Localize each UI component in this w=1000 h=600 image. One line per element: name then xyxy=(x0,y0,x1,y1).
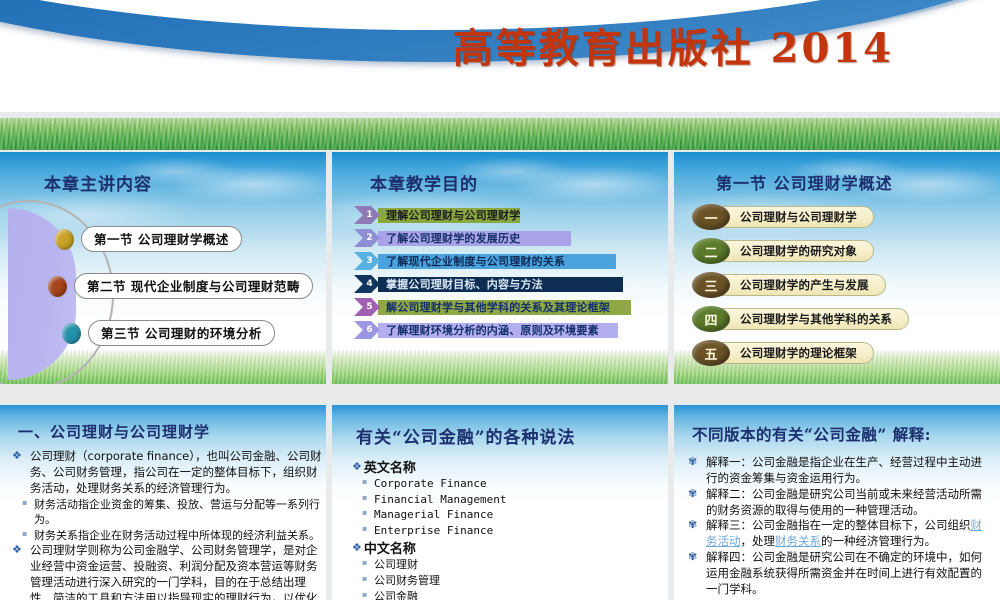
explanation-item: ✾解释一：公司金融是指企业在生产、经营过程中主动进行的资金筹集与资金运用行为。 xyxy=(688,455,990,487)
slide5-body: ❖ 英文名称 ▪Corporate Finance▪Financial Mana… xyxy=(352,457,652,600)
english-term-item: ▪Enterprise Finance xyxy=(352,523,652,539)
text-run: 解释四：公司金融是研究公司在不确定的环境中，如何运用金融系统获得所需资金并在时间… xyxy=(706,550,982,596)
subsection-number-badge: 二 xyxy=(692,238,730,264)
grass-divider-top xyxy=(0,118,1000,150)
diamond-bullet-icon: ❖ xyxy=(352,541,362,554)
diamond-bullet-icon: ❖ xyxy=(352,460,362,473)
english-term-list: ▪Corporate Finance▪Financial Management▪… xyxy=(352,476,652,538)
subsection-item[interactable]: 一公司理财与公司理财学 xyxy=(692,204,874,230)
subsection-number-badge: 四 xyxy=(692,306,730,332)
goal-item: 5解公司理财学与其他学科的关系及其理论框架 xyxy=(354,299,631,315)
bullet-item: ❖ 公司理财学则称为公司金融学、公司财务管理学，是对企业经营中资金运营、投融资、… xyxy=(12,543,322,600)
chinese-term-item: ▪公司理财 xyxy=(352,557,652,573)
section-label: 第一节 公司理财学概述 xyxy=(81,226,242,252)
subsection-number-badge: 三 xyxy=(692,272,730,298)
term-text: Corporate Finance xyxy=(374,476,652,492)
section-row-2[interactable]: 第二节 现代企业制度与公司理财范畴 xyxy=(48,273,313,299)
square-bullet-icon: ▪ xyxy=(352,557,374,573)
slide2-title: 本章教学目的 xyxy=(370,170,478,195)
section-label: 第三节 公司理财的环境分析 xyxy=(88,320,275,346)
bullet-item: ❖ 公司理财（corporate finance），也叫公司金融、公司财务、公司… xyxy=(12,449,322,497)
goal-item: 6了解理财环境分析的内涵、原则及环境要素 xyxy=(354,322,618,338)
slide-section1-overview[interactable]: 第一节 公司理财学概述 一公司理财与公司理财学二公司理财学的研究对象三公司理财学… xyxy=(674,152,1000,384)
slide-contact-sheet: 高等教育出版社 2014 本章主讲内容 第一节 公司理财学概述 第二节 现代企业… xyxy=(0,0,1000,600)
subsection-label: 公司理财学的研究对象 xyxy=(718,240,874,262)
explanation-text: 解释四：公司金融是研究公司在不确定的环境中，如何运用金融系统获得所需资金并在时间… xyxy=(706,550,990,598)
sub-paragraph-text: 财务关系指企业在财务活动过程中所体现的经济利益关系。 xyxy=(34,528,322,544)
diamond-bullet-icon: ✾ xyxy=(688,518,706,550)
subsection-label: 公司理财与公司理财学 xyxy=(718,206,874,228)
text-run: 解释二：公司金融是研究公司当前或未来经营活动所需的财务资源的取得与使用的一种管理… xyxy=(706,487,982,517)
sub-paragraph-text: 财务活动指企业资金的筹集、投放、营运与分配等一系列行为。 xyxy=(34,497,322,528)
publisher-title: 高等教育出版社 2014 xyxy=(453,16,894,74)
chinese-term-item: ▪公司财务管理 xyxy=(352,573,652,589)
goal-item: 3了解现代企业制度与公司理财的关系 xyxy=(354,253,616,269)
slide1-title: 本章主讲内容 xyxy=(44,170,152,195)
goal-item: 2了解公司理财学的发展历史 xyxy=(354,230,571,246)
diamond-bullet-icon: ✾ xyxy=(688,487,706,519)
paragraph-text: 公司理财（corporate finance），也叫公司金融、公司财务、公司财务… xyxy=(30,449,322,497)
slide-teaching-goals[interactable]: 本章教学目的 1理解公司理财与公司理财学2了解公司理财学的发展历史3了解现代企业… xyxy=(332,152,668,384)
subsection-label: 公司理财学的理论框架 xyxy=(718,342,874,364)
goal-text: 解公司理财学与其他学科的关系及其理论框架 xyxy=(378,300,631,315)
page-header: 高等教育出版社 2014 xyxy=(0,0,1000,112)
subsection-number-badge: 一 xyxy=(692,204,730,230)
goal-number-chevron-icon: 4 xyxy=(354,275,380,293)
header-fade xyxy=(0,68,1000,112)
english-term-item: ▪Managerial Finance xyxy=(352,507,652,523)
explanation-item: ✾解释三：公司金融指在一定的整体目标下，公司组织财务活动，处理财务关系的一种经济… xyxy=(688,518,990,550)
sub-bullet-item: ▪ 财务关系指企业在财务活动过程中所体现的经济利益关系。 xyxy=(12,528,322,544)
slide-corporate-finance-def[interactable]: 一、公司理财与公司理财学 ❖ 公司理财（corporate finance），也… xyxy=(0,405,326,600)
section-dot-icon xyxy=(48,276,67,297)
goal-number-chevron-icon: 6 xyxy=(354,321,380,339)
slide-finance-explanations[interactable]: 不同版本的有关“公司金融” 解释: ✾解释一：公司金融是指企业在生产、经营过程中… xyxy=(674,405,1000,600)
explanation-text: 解释二：公司金融是研究公司当前或未来经营活动所需的财务资源的取得与使用的一种管理… xyxy=(706,487,990,519)
slide6-title: 不同版本的有关“公司金融” 解释: xyxy=(692,423,931,445)
goal-text: 掌握公司理财目标、内容与方法 xyxy=(378,277,623,292)
paragraph-text: 公司理财学则称为公司金融学、公司财务管理学，是对企业经营中资金运营、投融资、利润… xyxy=(30,543,322,600)
chinese-term-list: ▪公司理财▪公司财务管理▪公司金融 xyxy=(352,557,652,600)
text-run: ，处理 xyxy=(741,534,776,548)
slide6-body: ✾解释一：公司金融是指企业在生产、经营过程中主动进行的资金筹集与资金运用行为。✾… xyxy=(688,455,990,598)
section-dot-icon xyxy=(55,229,74,250)
goal-item: 4掌握公司理财目标、内容与方法 xyxy=(354,276,623,292)
square-bullet-icon: ▪ xyxy=(12,497,34,528)
section-dot-icon xyxy=(62,323,81,344)
subsection-number-badge: 五 xyxy=(692,340,730,366)
inline-hyperlink[interactable]: 财务关系 xyxy=(775,534,821,548)
square-bullet-icon: ▪ xyxy=(352,573,374,589)
goal-number-chevron-icon: 1 xyxy=(354,206,380,224)
goal-item: 1理解公司理财与公司理财学 xyxy=(354,207,520,223)
subsection-label: 公司理财学的产生与发展 xyxy=(718,274,886,296)
square-bullet-icon: ▪ xyxy=(352,476,374,492)
sub-bullet-item: ▪ 财务活动指企业资金的筹集、投放、营运与分配等一系列行为。 xyxy=(12,497,322,528)
diamond-bullet-icon: ✾ xyxy=(688,550,706,598)
text-run: 的一种经济管理行为。 xyxy=(821,534,936,548)
square-bullet-icon: ▪ xyxy=(352,492,374,508)
group-heading-text: 中文名称 xyxy=(364,538,416,557)
subsection-item[interactable]: 二公司理财学的研究对象 xyxy=(692,238,874,264)
term-text: 公司金融 xyxy=(374,589,652,600)
explanation-text: 解释三：公司金融指在一定的整体目标下，公司组织财务活动，处理财务关系的一种经济管… xyxy=(706,518,990,550)
section-row-3[interactable]: 第三节 公司理财的环境分析 xyxy=(62,320,275,346)
goal-number-chevron-icon: 5 xyxy=(354,298,380,316)
diamond-bullet-icon: ✾ xyxy=(688,455,706,487)
explanation-text: 解释一：公司金融是指企业在生产、经营过程中主动进行的资金筹集与资金运用行为。 xyxy=(706,455,990,487)
subsection-label: 公司理财学与其他学科的关系 xyxy=(718,308,909,330)
group-heading-english: ❖ 英文名称 xyxy=(352,457,652,476)
explanation-item: ✾解释四：公司金融是研究公司在不确定的环境中，如何运用金融系统获得所需资金并在时… xyxy=(688,550,990,598)
explanation-list: ✾解释一：公司金融是指企业在生产、经营过程中主动进行的资金筹集与资金运用行为。✾… xyxy=(688,455,990,598)
square-bullet-icon: ▪ xyxy=(352,507,374,523)
diamond-bullet-icon: ❖ xyxy=(12,449,30,497)
english-term-item: ▪Corporate Finance xyxy=(352,476,652,492)
subsection-item[interactable]: 三公司理财学的产生与发展 xyxy=(692,272,886,298)
square-bullet-icon: ▪ xyxy=(12,528,34,544)
term-text: Financial Management xyxy=(374,492,652,508)
term-text: 公司理财 xyxy=(374,557,652,573)
slide-finance-terms[interactable]: 有关“公司金融”的各种说法 ❖ 英文名称 ▪Corporate Finance▪… xyxy=(332,405,668,600)
goal-text: 了解理财环境分析的内涵、原则及环境要素 xyxy=(378,323,618,338)
slide4-body: ❖ 公司理财（corporate finance），也叫公司金融、公司财务、公司… xyxy=(12,449,322,600)
diamond-bullet-icon: ❖ xyxy=(12,543,30,600)
goal-number-chevron-icon: 2 xyxy=(354,229,380,247)
slide-chapter-contents[interactable]: 本章主讲内容 第一节 公司理财学概述 第二节 现代企业制度与公司理财范畴 第三节… xyxy=(0,152,326,384)
goal-text: 理解公司理财与公司理财学 xyxy=(378,208,520,223)
explanation-item: ✾解释二：公司金融是研究公司当前或未来经营活动所需的财务资源的取得与使用的一种管… xyxy=(688,487,990,519)
term-text: Managerial Finance xyxy=(374,507,652,523)
term-text: Enterprise Finance xyxy=(374,523,652,539)
section-label: 第二节 现代企业制度与公司理财范畴 xyxy=(74,273,313,299)
group-heading-text: 英文名称 xyxy=(364,457,416,476)
slide5-title: 有关“公司金融”的各种说法 xyxy=(356,423,576,448)
subsection-item[interactable]: 五公司理财学的理论框架 xyxy=(692,340,874,366)
chinese-term-item: ▪公司金融 xyxy=(352,589,652,600)
goal-number-chevron-icon: 3 xyxy=(354,252,380,270)
square-bullet-icon: ▪ xyxy=(352,523,374,539)
subsection-item[interactable]: 四公司理财学与其他学科的关系 xyxy=(692,306,909,332)
goal-text: 了解现代企业制度与公司理财的关系 xyxy=(378,254,616,269)
term-text: 公司财务管理 xyxy=(374,573,652,589)
text-run: 解释三：公司金融指在一定的整体目标下，公司组织 xyxy=(706,518,971,532)
goal-text: 了解公司理财学的发展历史 xyxy=(378,231,571,246)
text-run: 解释一：公司金融是指企业在生产、经营过程中主动进行的资金筹集与资金运用行为。 xyxy=(706,455,982,485)
slide-grass-footer xyxy=(332,350,668,384)
square-bullet-icon: ▪ xyxy=(352,589,374,600)
slide3-title: 第一节 公司理财学概述 xyxy=(716,170,893,194)
slide4-title: 一、公司理财与公司理财学 xyxy=(18,421,210,442)
section-row-1[interactable]: 第一节 公司理财学概述 xyxy=(55,226,242,252)
group-heading-chinese: ❖ 中文名称 xyxy=(352,538,652,557)
english-term-item: ▪Financial Management xyxy=(352,492,652,508)
